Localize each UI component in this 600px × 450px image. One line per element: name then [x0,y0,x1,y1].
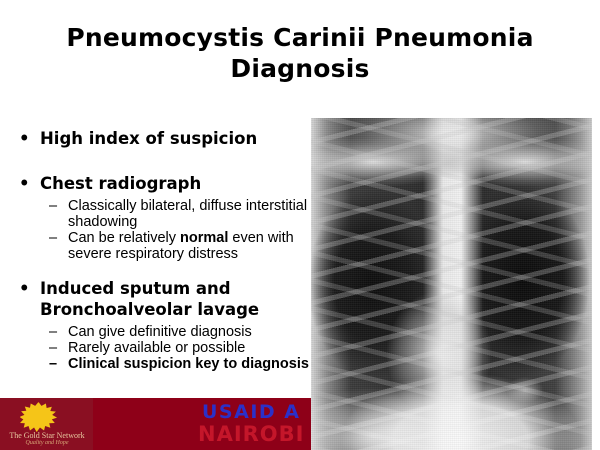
dash-marker-icon: – [49,198,57,214]
bullet-item-high-index-of-suspicion: • High index of suspicion [0,128,312,149]
xray-image-body [311,118,592,450]
logo-name-text: The Gold Star Network [3,431,91,440]
dash-marker-icon: – [49,324,57,340]
bullet-group-2: • Chest radiograph – Classically bilater… [0,173,312,262]
bullet-group-1: • High index of suspicion [0,128,312,149]
presentation-slide: Pneumocystis Carinii Pneumonia Diagnosis… [0,0,600,450]
bullet-group-3: • Induced sputum and Bronchoalveolar lav… [0,278,312,372]
spacer [0,149,312,173]
star-icon [20,402,57,432]
slide-title-line-2: Diagnosis [0,53,600,84]
dash-marker-icon: – [49,356,57,372]
bullet-content-column: • High index of suspicion • Chest radiog… [0,128,312,400]
sub-bullet-clinical-suspicion-key: – Clinical suspicion key to diagnosis [0,356,312,372]
spacer [0,262,312,278]
dash-marker-icon: – [49,230,57,246]
dash-marker-icon: – [49,340,57,356]
sub-bullet-label: Can give definitive diagnosis [68,324,252,340]
sub-bullet-classically-bilateral: – Classically bilateral, diffuse interst… [0,198,312,230]
bullet-label: High index of suspicion [40,129,257,148]
sub-bullet-rarely-available-or-possible: – Rarely available or possible [0,340,312,356]
sub-bullet-label: Clinical suspicion key to diagnosis [68,356,309,372]
usaid-wordmark: USAID A [202,401,300,423]
logo-tagline-text: Quality and Hope [3,440,91,447]
chest-xray-radiograph [311,118,592,450]
bullet-item-induced-sputum-and-bal: • Induced sputum and Bronchoalveolar lav… [0,278,312,320]
sub-bullet-can-give-definitive-diagnosis: – Can give definitive diagnosis [0,324,312,340]
bullet-item-chest-radiograph: • Chest radiograph [0,173,312,194]
bullet-label: Induced sputum and Bronchoalveolar lavag… [40,279,259,319]
bullet-dot-icon: • [19,278,30,299]
bullet-dot-icon: • [19,173,30,194]
sub-bullet-emphasis: normal [180,230,228,246]
sub-bullet-label: Rarely available or possible [68,340,245,356]
gold-star-network-logo: The Gold Star Network Quality and Hope [0,398,93,450]
bullet-dot-icon: • [19,128,30,149]
bullet-label: Chest radiograph [40,174,201,193]
sub-bullet-label: Classically bilateral, diffuse interstit… [68,198,307,230]
footer-band: USAID A NAIROBI The Gold Star Network Qu… [0,398,311,450]
sub-bullet-can-be-relatively-normal: – Can be relatively normal even with sev… [0,230,312,262]
slide-title-line-1: Pneumocystis Carinii Pneumonia [66,23,533,52]
nairobi-wordmark: NAIROBI [198,422,304,446]
slide-title: Pneumocystis Carinii Pneumonia Diagnosis [0,22,600,84]
sub-bullet-text-before: Can be relatively [68,230,180,246]
